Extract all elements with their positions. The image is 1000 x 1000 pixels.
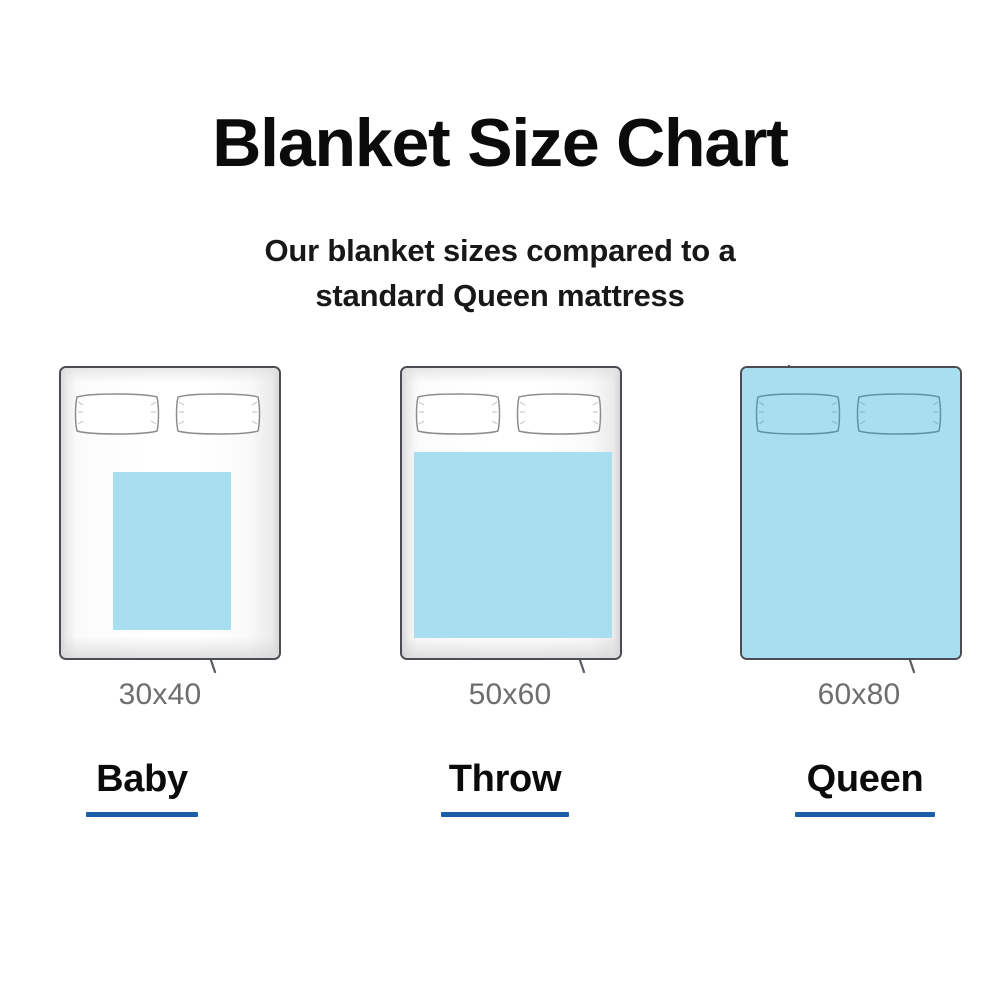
bed-columns: 30x40 Baby (0, 0, 1000, 1000)
category-block-throw: Throw (335, 756, 675, 817)
category-label-queen: Queen (807, 756, 924, 802)
pillow-right (174, 390, 262, 438)
bed-column-queen: 60x80 Queen (681, 0, 1000, 1000)
blanket-baby (113, 472, 231, 630)
category-label-baby: Baby (96, 756, 188, 802)
dimension-label-baby: 30x40 (0, 678, 330, 712)
pillow-left (754, 390, 842, 438)
category-block-baby: Baby (0, 756, 312, 817)
category-label-throw: Throw (449, 756, 561, 802)
blanket-size-chart-page: Blanket Size Chart Our blanket sizes com… (0, 0, 1000, 1000)
pillow-right (515, 390, 603, 438)
bed-illustration-throw (400, 366, 622, 660)
blanket-throw (414, 452, 612, 638)
category-underline-queen (795, 812, 935, 817)
dimension-label-queen: 60x80 (689, 678, 1000, 712)
dimension-label-throw: 50x60 (340, 678, 680, 712)
category-underline-throw (441, 812, 569, 817)
category-block-queen: Queen (695, 756, 1000, 817)
bed-frame (740, 366, 962, 660)
pillow-left (414, 390, 502, 438)
bed-illustration-baby (59, 366, 281, 660)
bed-frame (59, 366, 281, 660)
bed-illustration-queen (740, 366, 962, 660)
bed-column-throw: 50x60 Throw (341, 0, 681, 1000)
bed-column-baby: 30x40 Baby (0, 0, 340, 1000)
pillow-right (855, 390, 943, 438)
bed-frame (400, 366, 622, 660)
pillow-left (73, 390, 161, 438)
category-underline-baby (86, 812, 198, 817)
